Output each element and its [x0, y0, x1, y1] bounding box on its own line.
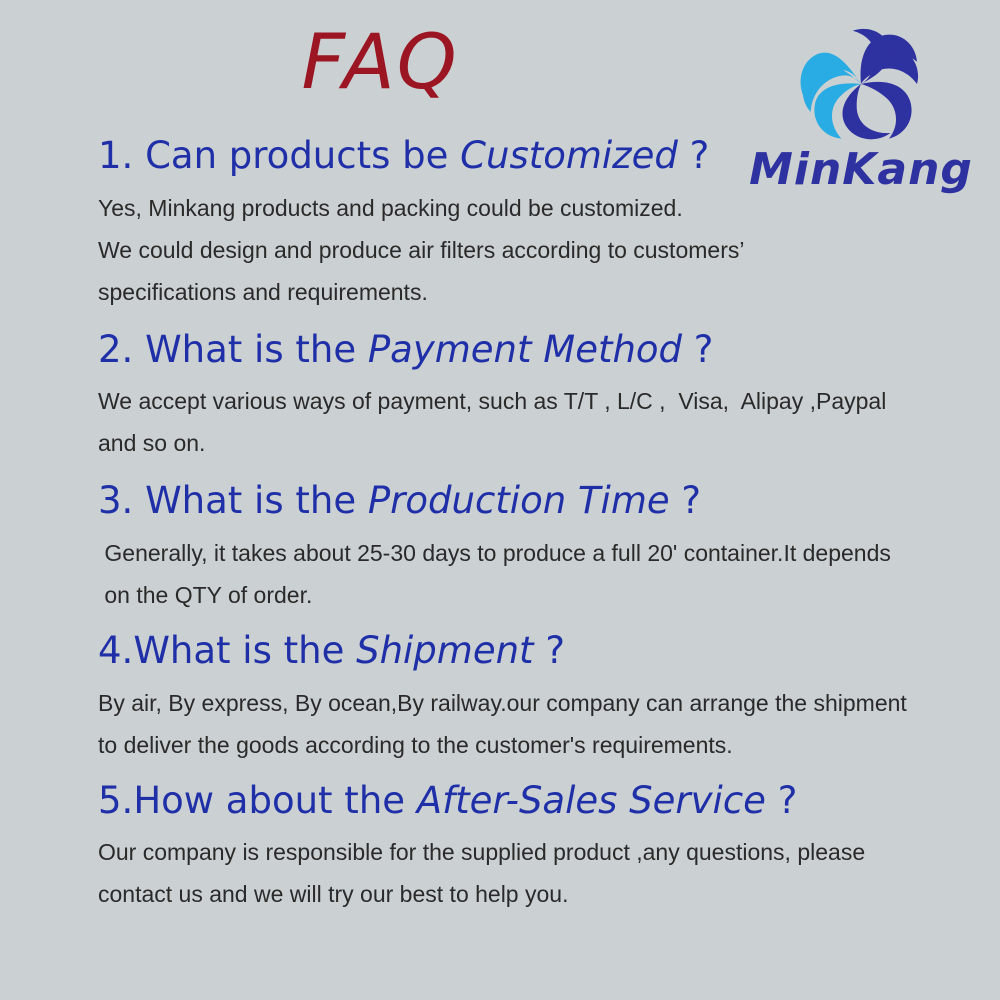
faq-answer-1-line-3: specifications and requirements. [98, 271, 978, 313]
faq-question-5: 5.How about the After-Sales Service ? [98, 779, 978, 823]
faq-question-2-tail: ? [682, 328, 713, 371]
faq-answer-5-line-2: contact us and we will try our best to h… [98, 873, 978, 915]
faq-question-1-tail: ? [678, 134, 709, 177]
faq-answer-2: We accept various ways of payment, such … [98, 380, 978, 464]
faq-question-2-lead: What is the [145, 328, 368, 371]
faq-question-1-number: 1. [98, 134, 145, 177]
faq-question-5-tail: ? [766, 779, 797, 822]
faq-answer-1-line-2: We could design and produce air filters … [98, 229, 978, 271]
faq-question-5-number: 5. [98, 779, 133, 822]
faq-question-4-emphasis: Shipment [356, 629, 533, 672]
faq-answer-4: By air, By express, By ocean,By railway.… [98, 682, 978, 766]
faq-question-3-number: 3. [98, 479, 145, 522]
faq-question-3: 3. What is the Production Time ? [98, 479, 978, 523]
faq-answer-4-line-1: By air, By express, By ocean,By railway.… [98, 682, 978, 724]
faq-question-4-tail: ? [534, 629, 565, 672]
faq-question-1-emphasis: Customized [460, 134, 678, 177]
faq-answer-4-line-2: to deliver the goods according to the cu… [98, 724, 978, 766]
faq-answer-5-line-1: Our company is responsible for the suppl… [98, 831, 978, 873]
faq-question-2-number: 2. [98, 328, 145, 371]
faq-question-3-lead: What is the [145, 479, 368, 522]
faq-question-2-emphasis: Payment Method [368, 328, 682, 371]
faq-page: FAQ MinKang [0, 0, 1000, 1000]
faq-answer-5: Our company is responsible for the suppl… [98, 831, 978, 915]
faq-item-4: 4.What is the Shipment ? By air, By expr… [98, 629, 978, 766]
faq-answer-2-line-2: and so on. [98, 422, 978, 464]
faq-answer-3-line-2: on the QTY of order. [98, 574, 978, 616]
faq-question-4-number: 4. [98, 629, 133, 672]
faq-question-2: 2. What is the Payment Method ? [98, 328, 978, 372]
faq-item-5: 5.How about the After-Sales Service ? Ou… [98, 779, 978, 916]
faq-question-1: 1. Can products be Customized ? [98, 134, 978, 178]
faq-answer-2-line-1: We accept various ways of payment, such … [98, 380, 978, 422]
faq-question-4-lead: What is the [133, 629, 356, 672]
faq-question-5-emphasis: After-Sales Service [417, 779, 766, 822]
page-header: FAQ MinKang [0, 0, 1000, 124]
faq-item-1: 1. Can products be Customized ? Yes, Min… [98, 134, 978, 313]
faq-item-2: 2. What is the Payment Method ? We accep… [98, 328, 978, 465]
faq-item-3: 3. What is the Production Time ? General… [98, 479, 978, 616]
faq-answer-3: Generally, it takes about 25-30 days to … [98, 532, 978, 616]
faq-question-4: 4.What is the Shipment ? [98, 629, 978, 673]
faq-question-5-lead: How about the [133, 779, 416, 822]
faq-list: 1. Can products be Customized ? Yes, Min… [98, 132, 978, 915]
faq-answer-1: Yes, Minkang products and packing could … [98, 187, 978, 313]
faq-answer-1-line-1: Yes, Minkang products and packing could … [98, 187, 978, 229]
faq-question-1-lead: Can products be [145, 134, 460, 177]
faq-question-3-tail: ? [670, 479, 701, 522]
page-title: FAQ [0, 24, 760, 100]
faq-question-3-emphasis: Production Time [368, 479, 670, 522]
faq-answer-3-line-1: Generally, it takes about 25-30 days to … [98, 532, 978, 574]
